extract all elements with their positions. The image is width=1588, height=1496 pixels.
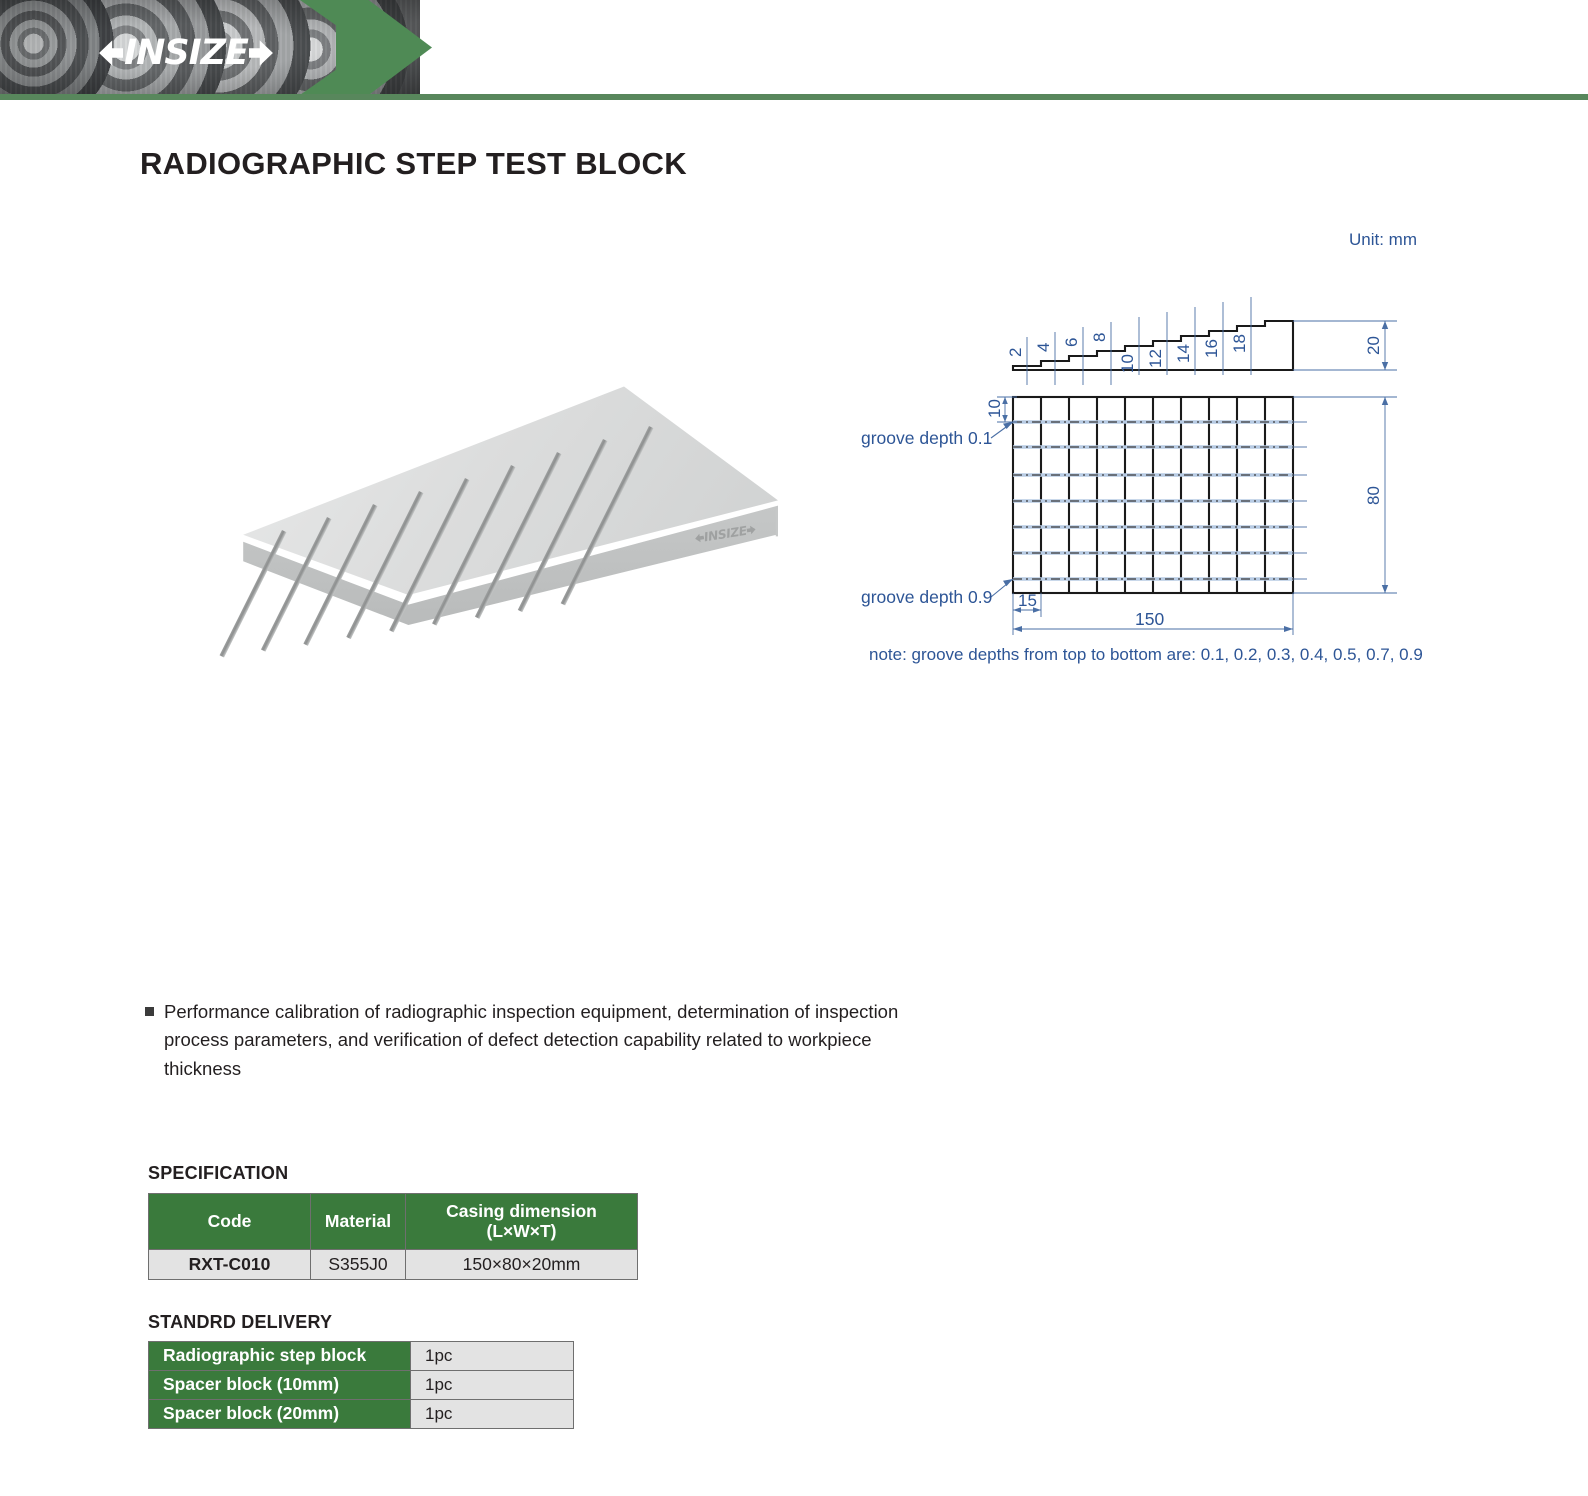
arrow-right-icon	[249, 38, 273, 68]
page-header: INSIZE	[0, 0, 1588, 100]
plan-width-label: 80	[1364, 486, 1383, 505]
plan-length-label: 150	[1135, 609, 1164, 629]
table-row: Radiographic step block 1pc	[149, 1342, 574, 1371]
table-row: Spacer block (20mm) 1pc	[149, 1400, 574, 1429]
edge-offset-label: 10	[985, 399, 1004, 418]
overall-height-label: 20	[1364, 336, 1383, 355]
cell-item-qty: 1pc	[411, 1400, 574, 1429]
drawing-note: note: groove depths from top to bottom a…	[869, 645, 1423, 665]
thickness-label: 14	[1174, 344, 1193, 363]
cell-item-name: Spacer block (20mm)	[149, 1400, 411, 1429]
product-photo: INSIZE	[210, 370, 800, 645]
groove-leaders	[991, 422, 1013, 597]
plan-view: groove depth 0.1 groove depth 0.9 10 80	[861, 397, 1397, 635]
step-pitch-label: 15	[1018, 591, 1037, 610]
technical-drawing: Unit: mm 2 4 6 8 1	[845, 225, 1485, 685]
table-header-row: Code Material Casing dimension (L×W×T)	[149, 1194, 638, 1250]
thickness-label: 6	[1062, 338, 1081, 347]
drawing-svg: 2 4 6 8 10 12 14 16 18 20	[845, 225, 1485, 645]
thickness-label: 12	[1146, 349, 1165, 368]
groove-depth-top-label: groove depth 0.1	[861, 428, 992, 448]
header-green-rule	[0, 94, 1588, 100]
page-title: RADIOGRAPHIC STEP TEST BLOCK	[140, 146, 687, 182]
table-row: RXT-C010 S355J0 150×80×20mm	[149, 1249, 638, 1279]
insize-logo: INSIZE	[96, 33, 276, 73]
column-header-dimension: Casing dimension (L×W×T)	[406, 1194, 638, 1250]
cell-item-qty: 1pc	[411, 1342, 574, 1371]
thickness-label: 2	[1006, 348, 1025, 357]
dimension-header-line1: Casing dimension	[412, 1201, 631, 1221]
thickness-label: 8	[1090, 333, 1109, 342]
table-row: Spacer block (10mm) 1pc	[149, 1371, 574, 1400]
features-list: Performance calibration of radiographic …	[145, 998, 935, 1083]
thickness-label: 16	[1202, 339, 1221, 358]
logo-wordmark: INSIZE	[124, 36, 248, 71]
step-block-illustration: INSIZE	[210, 370, 800, 645]
block-top-face	[218, 380, 778, 595]
groove-leader-arrows	[1003, 422, 1013, 586]
cell-code: RXT-C010	[149, 1249, 311, 1279]
column-header-code: Code	[149, 1194, 311, 1250]
cell-item-qty: 1pc	[411, 1371, 574, 1400]
specification-title: SPECIFICATION	[148, 1163, 638, 1184]
thickness-label: 18	[1230, 334, 1249, 353]
cell-dimension: 150×80×20mm	[406, 1249, 638, 1279]
delivery-section: STANDRD DELIVERY Radiographic step block…	[148, 1312, 574, 1429]
delivery-title: STANDRD DELIVERY	[148, 1312, 574, 1333]
delivery-table: Radiographic step block 1pc Spacer block…	[148, 1341, 574, 1429]
step-thickness-labels: 2 4 6 8 10 12 14 16 18	[1006, 333, 1249, 373]
square-bullet-icon	[145, 1007, 154, 1016]
groove-depth-bottom-label: groove depth 0.9	[861, 587, 992, 607]
cell-item-name: Spacer block (10mm)	[149, 1371, 411, 1400]
cell-material: S355J0	[311, 1249, 406, 1279]
feature-text: Performance calibration of radiographic …	[164, 998, 935, 1083]
cell-item-name: Radiographic step block	[149, 1342, 411, 1371]
thickness-label: 10	[1118, 354, 1137, 373]
thickness-label: 4	[1034, 343, 1053, 352]
specification-table: Code Material Casing dimension (L×W×T) R…	[148, 1193, 638, 1280]
feature-item: Performance calibration of radiographic …	[145, 998, 935, 1083]
step-profile-view: 2 4 6 8 10 12 14 16 18 20	[1006, 297, 1397, 385]
dimension-header-line2: (L×W×T)	[412, 1221, 631, 1241]
specification-section: SPECIFICATION Code Material Casing dimen…	[148, 1163, 638, 1280]
arrow-left-icon	[99, 38, 123, 68]
column-header-material: Material	[311, 1194, 406, 1250]
